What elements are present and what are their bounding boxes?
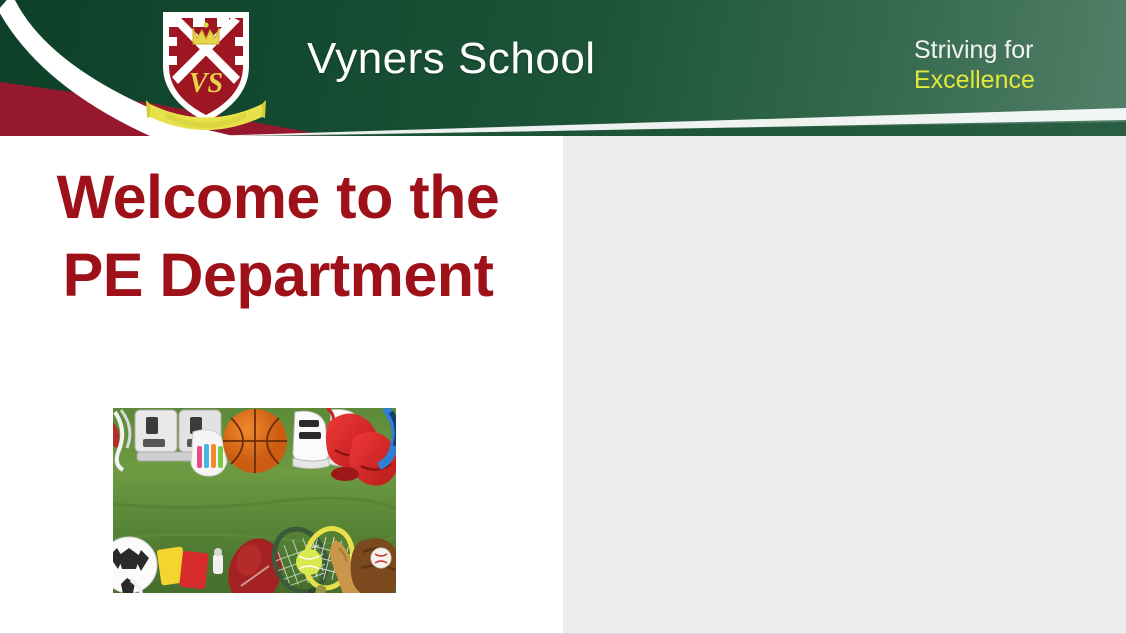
strapline: Striving for Excellence [914,36,1035,95]
staff-panel: Staff: Mr Hall, Subject LeaderMiss Powic… [563,136,1126,634]
presentation-slide: VS Vyners School Striving for Excellence… [0,0,1126,634]
school-crest-icon: VS [146,4,266,134]
sports-equipment-photo [113,408,396,593]
svg-text:VS: VS [189,68,223,99]
page-title: Welcome to the PE Department [28,158,528,314]
school-name-title: Vyners School [307,34,596,84]
strapline-line-1: Striving for [914,36,1035,66]
strapline-line-2: Excellence [914,66,1035,96]
header-banner: VS Vyners School Striving for Excellence [0,0,1126,136]
left-content-panel: Welcome to the PE Department [0,136,563,634]
slide-body: Welcome to the PE Department [0,136,1126,634]
